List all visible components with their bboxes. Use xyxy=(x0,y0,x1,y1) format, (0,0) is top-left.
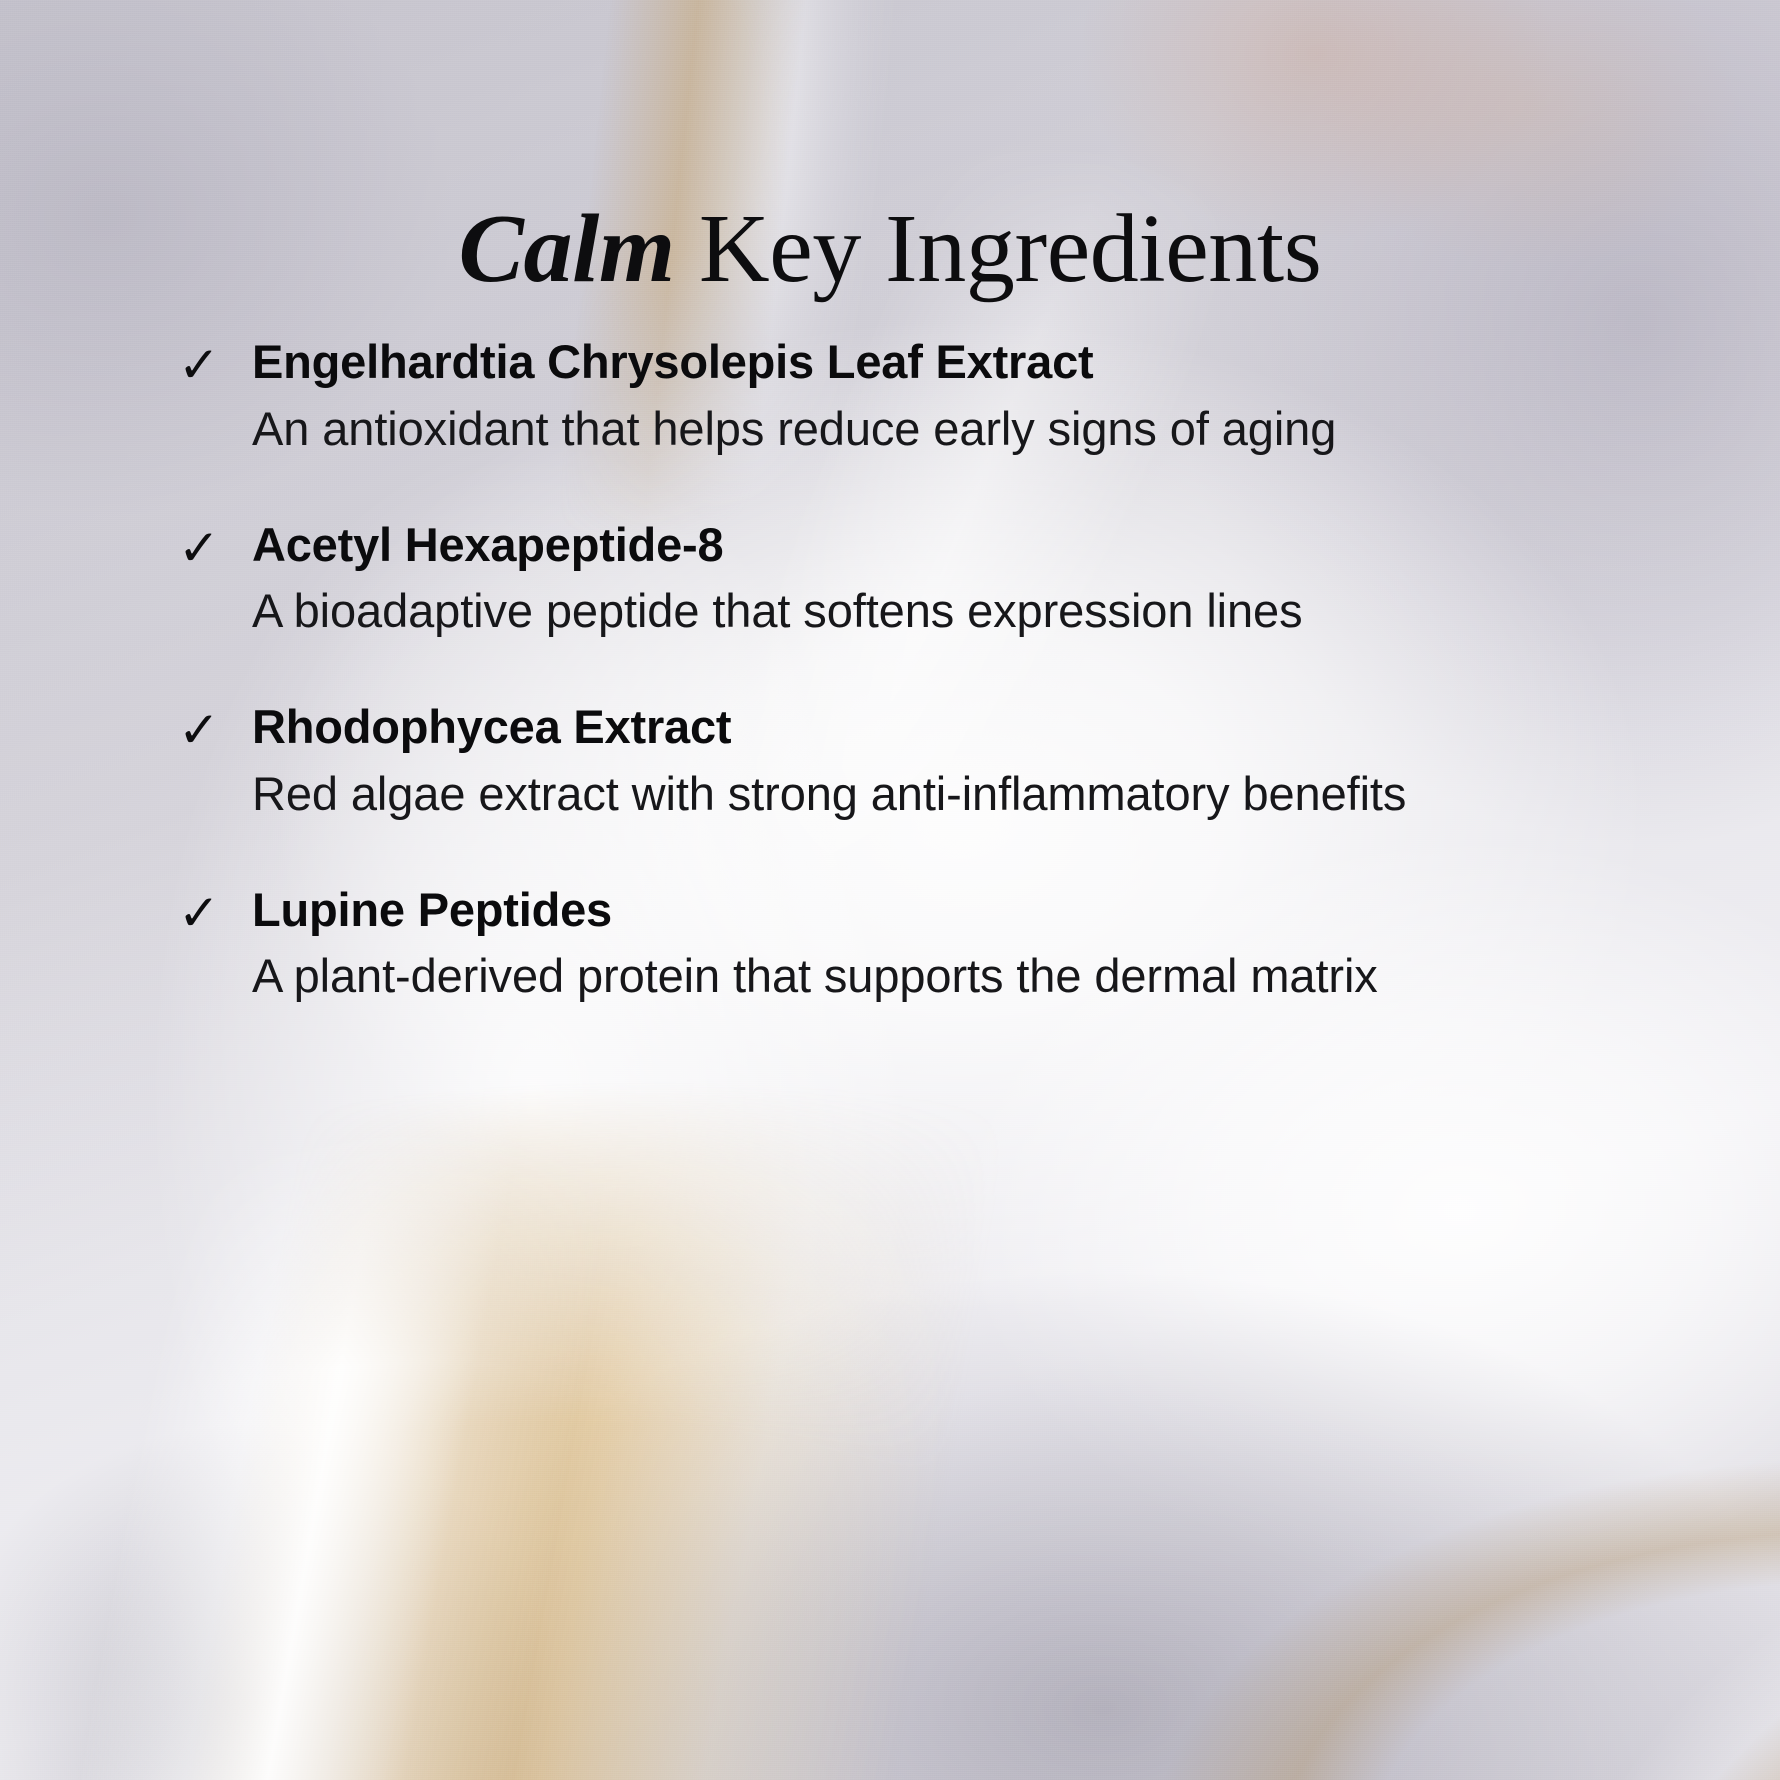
list-item-body: Acetyl Hexapeptide-8 A bioadaptive pepti… xyxy=(252,519,1608,644)
ingredient-list: ✓ Engelhardtia Chrysolepis Leaf Extract … xyxy=(178,336,1608,1008)
ingredient-description: A plant-derived protein that supports th… xyxy=(252,944,1608,1008)
list-item-body: Engelhardtia Chrysolepis Leaf Extract An… xyxy=(252,336,1608,461)
page-title-emphasis: Calm xyxy=(459,195,675,303)
page-title: Calm Key Ingredients xyxy=(0,198,1780,301)
list-item: ✓ Rhodophycea Extract Red algae extract … xyxy=(178,701,1608,826)
ingredient-name: Acetyl Hexapeptide-8 xyxy=(252,519,1608,572)
check-icon: ✓ xyxy=(178,884,226,938)
content-layer: Calm Key Ingredients ✓ Engelhardtia Chry… xyxy=(0,0,1780,1780)
ingredient-name: Rhodophycea Extract xyxy=(252,701,1608,754)
ingredient-description: Red algae extract with strong anti-infla… xyxy=(252,762,1608,826)
list-item-body: Rhodophycea Extract Red algae extract wi… xyxy=(252,701,1608,826)
list-item: ✓ Acetyl Hexapeptide-8 A bioadaptive pep… xyxy=(178,519,1608,644)
ingredient-description: A bioadaptive peptide that softens expre… xyxy=(252,579,1608,643)
list-item: ✓ Lupine Peptides A plant-derived protei… xyxy=(178,884,1608,1009)
check-icon: ✓ xyxy=(178,519,226,573)
list-item-body: Lupine Peptides A plant-derived protein … xyxy=(252,884,1608,1009)
ingredient-description: An antioxidant that helps reduce early s… xyxy=(252,397,1608,461)
list-item: ✓ Engelhardtia Chrysolepis Leaf Extract … xyxy=(178,336,1608,461)
check-icon: ✓ xyxy=(178,336,226,390)
check-icon: ✓ xyxy=(178,701,226,755)
page-title-rest: Key Ingredients xyxy=(675,195,1322,303)
ingredients-infographic: Calm Key Ingredients ✓ Engelhardtia Chry… xyxy=(0,0,1780,1780)
ingredient-name: Lupine Peptides xyxy=(252,884,1608,937)
ingredient-name: Engelhardtia Chrysolepis Leaf Extract xyxy=(252,336,1608,389)
